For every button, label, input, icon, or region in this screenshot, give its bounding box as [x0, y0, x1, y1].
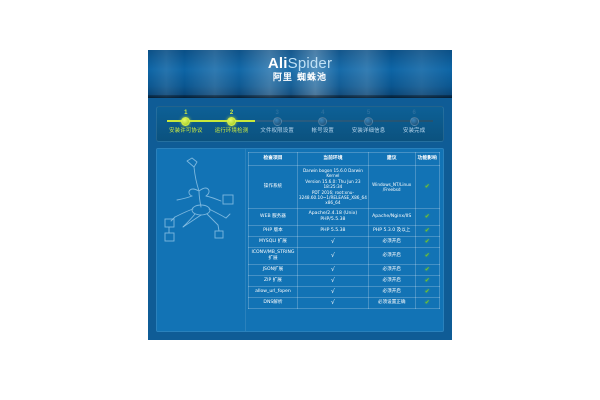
- installer-page: AliSpider 阿里 蜘蛛池 1 安装许可协议 2 运行环境检测 3 文件权…: [148, 50, 452, 340]
- step-1-dot-icon: [181, 117, 190, 126]
- row-env-check-icon: √: [297, 247, 368, 264]
- step-3-number: 3: [254, 110, 300, 116]
- header-banner: AliSpider 阿里 蜘蛛池: [148, 50, 452, 98]
- table-row: MYSQLI 扩展 √ 必须开启 ✔: [249, 236, 440, 247]
- step-1[interactable]: 1 安装许可协议: [163, 110, 209, 139]
- step-5[interactable]: 5 安装详细信息: [346, 110, 392, 139]
- step-1-label: 安装许可协议: [163, 128, 209, 135]
- step-6-number: 6: [391, 110, 437, 116]
- row-item: JSON扩展: [249, 264, 298, 275]
- row-effect-ok-icon: ✔: [415, 236, 440, 247]
- step-6-dot-icon: [410, 117, 419, 126]
- content-panel: 检查项目 当前环境 建议 功能影响 操作系统 Darwin bogon 15.6…: [156, 148, 444, 332]
- row-effect-ok-icon: ✔: [415, 166, 440, 209]
- row-item: ZIP 扩展: [249, 275, 298, 286]
- brand-ali: Ali: [268, 55, 288, 72]
- environment-check-table-area: 检查项目 当前环境 建议 功能影响 操作系统 Darwin bogon 15.6…: [246, 149, 443, 331]
- row-effect-ok-icon: ✔: [415, 286, 440, 297]
- row-effect-ok-icon: ✔: [415, 247, 440, 264]
- step-list: 1 安装许可协议 2 运行环境检测 3 文件权限设置 4 帐号设置 5: [163, 110, 437, 139]
- row-env-check-icon: √: [297, 297, 368, 308]
- step-4-label: 帐号设置: [300, 128, 346, 135]
- row-item: DNS解析: [249, 297, 298, 308]
- row-suggest: 必须开启: [368, 264, 415, 275]
- step-3-label: 文件权限设置: [254, 128, 300, 135]
- table-header-row: 检查项目 当前环境 建议 功能影响: [249, 153, 440, 166]
- step-5-number: 5: [346, 110, 392, 116]
- row-suggest: 必须开启: [368, 275, 415, 286]
- environment-check-table: 检查项目 当前环境 建议 功能影响 操作系统 Darwin bogon 15.6…: [248, 152, 440, 309]
- row-effect-ok-icon: ✔: [415, 275, 440, 286]
- step-3[interactable]: 3 文件权限设置: [254, 110, 300, 139]
- table-row: WEB 服务器 Apache/2.4.18 (Unix) PHP/5.5.38 …: [249, 208, 440, 225]
- step-5-dot-icon: [364, 117, 373, 126]
- step-2[interactable]: 2 运行环境检测: [209, 110, 255, 139]
- table-row: DNS解析 √ 必须设置正确 ✔: [249, 297, 440, 308]
- table-row: allow_url_fopen √ 必须开启 ✔: [249, 286, 440, 297]
- table-row: PHP 版本 PHP 5.5.38 PHP 5.3.0 及以上 ✔: [249, 225, 440, 236]
- table-row: ICONV/MB_STRING 扩展 √ 必须开启 ✔: [249, 247, 440, 264]
- row-env-check-icon: √: [297, 275, 368, 286]
- col-header-env: 当前环境: [297, 153, 368, 166]
- row-env: Darwin bogon 15.6.0 Darwin Kernel Versio…: [297, 166, 368, 209]
- row-env-check-icon: √: [297, 264, 368, 275]
- step-4[interactable]: 4 帐号设置: [300, 110, 346, 139]
- brand-name-en: AliSpider: [148, 56, 452, 71]
- step-2-label: 运行环境检测: [209, 128, 255, 135]
- row-item: allow_url_fopen: [249, 286, 298, 297]
- row-env-check-icon: √: [297, 286, 368, 297]
- brand-logo: AliSpider 阿里 蜘蛛池: [148, 56, 452, 83]
- row-item: PHP 版本: [249, 225, 298, 236]
- col-header-suggest: 建议: [368, 153, 415, 166]
- table-row: 操作系统 Darwin bogon 15.6.0 Darwin Kernel V…: [249, 166, 440, 209]
- table-row: ZIP 扩展 √ 必须开启 ✔: [249, 275, 440, 286]
- row-item: MYSQLI 扩展: [249, 236, 298, 247]
- step-4-number: 4: [300, 110, 346, 116]
- spider-web-icon: [161, 155, 241, 255]
- step-6-label: 安装完成: [391, 128, 437, 135]
- col-header-effect: 功能影响: [415, 153, 440, 166]
- step-2-number: 2: [209, 110, 255, 116]
- row-suggest: 必须设置正确: [368, 297, 415, 308]
- table-row: JSON扩展 √ 必须开启 ✔: [249, 264, 440, 275]
- brand-name-cn: 阿里 蜘蛛池: [148, 74, 452, 83]
- step-4-dot-icon: [318, 117, 327, 126]
- row-item: ICONV/MB_STRING 扩展: [249, 247, 298, 264]
- row-item: 操作系统: [249, 166, 298, 209]
- step-3-dot-icon: [273, 117, 282, 126]
- col-header-item: 检查项目: [249, 153, 298, 166]
- row-item: WEB 服务器: [249, 208, 298, 225]
- brand-spider: Spider: [288, 55, 333, 72]
- row-env: PHP 5.5.38: [297, 225, 368, 236]
- row-suggest: 必须开启: [368, 247, 415, 264]
- row-effect-ok-icon: ✔: [415, 264, 440, 275]
- row-suggest: 必须开启: [368, 286, 415, 297]
- sidebar-illustration: [157, 149, 246, 331]
- step-2-dot-icon: [227, 117, 236, 126]
- row-suggest: 必须开启: [368, 236, 415, 247]
- row-effect-ok-icon: ✔: [415, 208, 440, 225]
- step-5-label: 安装详细信息: [346, 128, 392, 135]
- step-6[interactable]: 6 安装完成: [391, 110, 437, 139]
- row-suggest: PHP 5.3.0 及以上: [368, 225, 415, 236]
- row-env: Apache/2.4.18 (Unix) PHP/5.5.38: [297, 208, 368, 225]
- step-progress-bar: 1 安装许可协议 2 运行环境检测 3 文件权限设置 4 帐号设置 5: [156, 106, 444, 142]
- row-suggest: Apache/Nginx/IIS: [368, 208, 415, 225]
- step-1-number: 1: [163, 110, 209, 116]
- row-effect-ok-icon: ✔: [415, 225, 440, 236]
- row-effect-ok-icon: ✔: [415, 297, 440, 308]
- row-suggest: Windows_NT/Linux /Freebsd: [368, 166, 415, 209]
- row-env-check-icon: √: [297, 236, 368, 247]
